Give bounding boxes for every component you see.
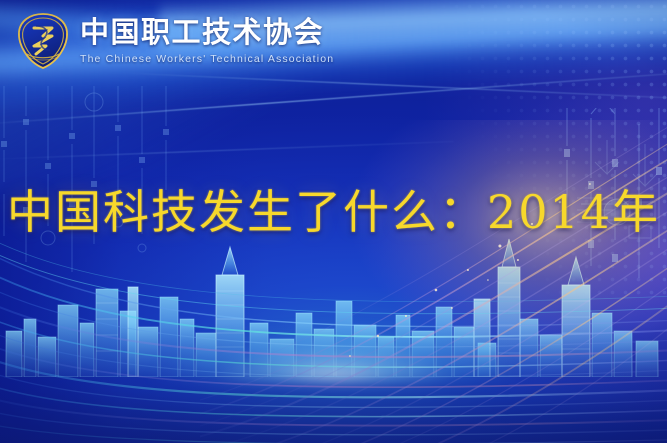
poster-banner: 中国职工技术协会 The Chinese Workers' Technical … xyxy=(0,0,667,443)
light-streaks-right xyxy=(200,120,667,443)
brand-block: 中国职工技术协会 The Chinese Workers' Technical … xyxy=(80,17,334,64)
org-name-cn: 中国职工技术协会 xyxy=(80,17,334,48)
poster-title: 中国科技发生了什么：2014年 xyxy=(7,176,660,242)
title-area: 中国科技发生了什么：2014年 xyxy=(0,176,667,242)
org-name-en: The Chinese Workers' Technical Associati… xyxy=(80,53,334,65)
header-bar: 中国职工技术协会 The Chinese Workers' Technical … xyxy=(0,0,667,82)
cwta-shield-logo-icon xyxy=(16,12,70,70)
